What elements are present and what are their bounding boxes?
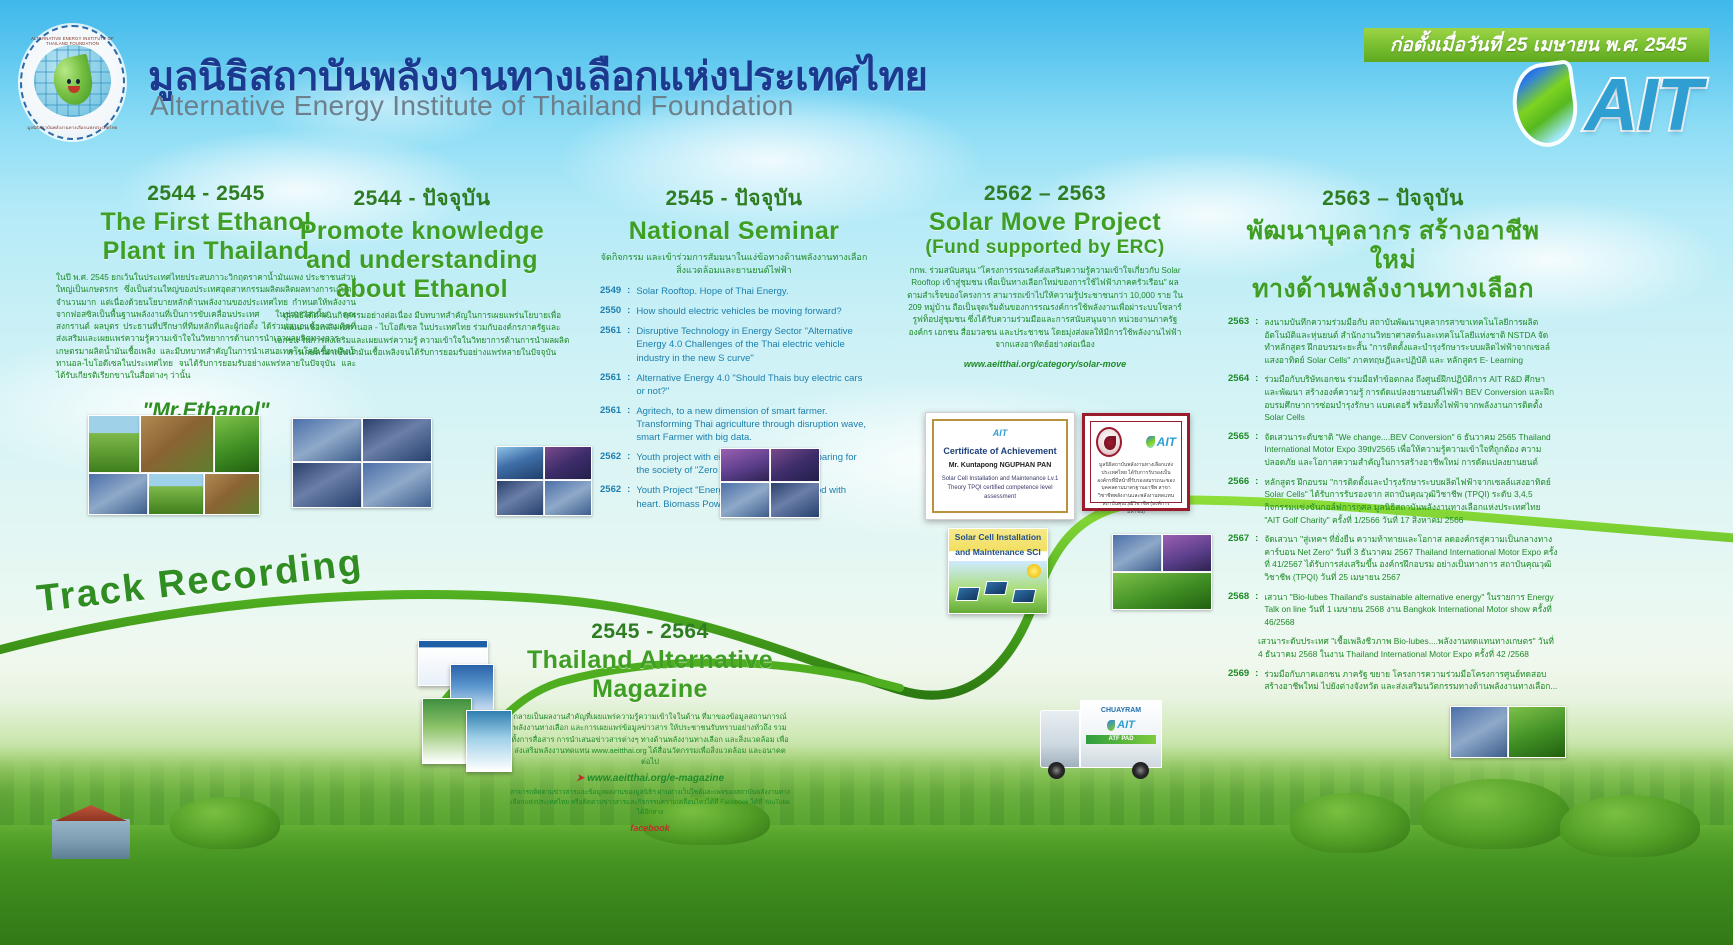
item-year: 2564	[1228, 373, 1249, 423]
column-body-thai: มูลนิธิได้ดำเนินกิจกรรมอย่างต่อเนื่อง มี…	[272, 310, 572, 359]
ait-logo: AIT	[1509, 62, 1701, 148]
infographic-poster: ALTERNATIVE ENERGY INSTITUTE OF THAILAND…	[0, 0, 1733, 945]
item-text: Disruptive Technology in Energy Sector "…	[636, 325, 868, 364]
photo	[362, 462, 432, 508]
item-text: ร่วมมือกับภาคเอกชน ภาครัฐ ขยาย โครงการคว…	[1264, 668, 1558, 693]
title-line: พัฒนาบุคลากร สร้างอาชีพใหม่	[1247, 217, 1540, 274]
seal-top-text: ALTERNATIVE ENERGY INSTITUTE OF THAILAND…	[20, 36, 125, 46]
solar-panel-icon	[984, 581, 1009, 595]
photo	[1508, 706, 1566, 758]
personnel-list: 2563: ลงนามบันทึกความร่วมมือกับ สถาบันพั…	[1228, 316, 1558, 693]
flame-icon	[1146, 436, 1155, 448]
column-solar-move-project: 2562 – 2563 Solar Move Project (Fund sup…	[905, 182, 1185, 369]
title-line: National Seminar	[629, 217, 840, 245]
track-recording-label: Track Recording	[35, 542, 366, 622]
item-text: เสวนาระดับประเทศ "เชื้อเพลิงชีวภาพ Bio-l…	[1258, 635, 1558, 660]
facebook-badge[interactable]: facebook	[630, 823, 670, 833]
item-text: Solar Rooftop. Hope of Thai Energy.	[636, 285, 788, 298]
item-text: จัดเสวนาระดับชาติ "We change....BEV Conv…	[1264, 431, 1558, 469]
item-text: จัดเสวนา "สู่เทคฯ ที่ยั่งยืน ความท้าทายแ…	[1264, 533, 1558, 583]
photo	[1162, 534, 1212, 572]
photo	[770, 448, 820, 482]
item-year: 2550	[600, 305, 621, 318]
truck-box: CHUAYRAM AIT ATF PAD	[1080, 700, 1162, 768]
certificate-name: Mr. Kuntapong NGUPHAN PAN	[940, 461, 1060, 472]
solar-panel-icon	[1012, 589, 1037, 603]
item-text: เสวนา "Bio-lubes Thailand's sustainable …	[1264, 591, 1558, 629]
certificate-body: Solar Cell Installation and Maintenance …	[940, 475, 1060, 502]
photo	[140, 415, 214, 473]
list-item: 2568: เสวนา "Bio-lubes Thailand's sustai…	[1228, 591, 1558, 629]
photo	[720, 482, 770, 518]
photo	[1450, 706, 1508, 758]
truck-wheel	[1048, 762, 1065, 779]
title-line: Promote knowledge	[300, 217, 544, 245]
title-line: Thailand Alternative	[527, 646, 773, 674]
item-text: Agritech, to a new dimension of smart fa…	[636, 405, 868, 444]
photo	[496, 446, 544, 480]
photo	[544, 480, 592, 516]
column-thailand-alternative-magazine: 2545 - 2564 Thailand Alternative Magazin…	[510, 620, 790, 836]
bush	[1560, 795, 1700, 857]
bush	[1290, 793, 1410, 853]
item-year: 2566	[1228, 476, 1249, 526]
founded-date-banner: ก่อตั้งเมื่อวันที่ 25 เมษายน พ.ศ. 2545	[1364, 28, 1709, 62]
award-certificate-image: AIT มูลนิธิสถาบันพลังงานทางเลือกแห่งประเ…	[1082, 413, 1190, 511]
photo	[292, 418, 362, 462]
column-title: พัฒนาบุคลากร สร้างอาชีพใหม่ ทางด้านพลังง…	[1228, 217, 1558, 304]
truck-ait-label: AIT	[1117, 719, 1135, 731]
solar-training-banner: Solar Cell Installation and Maintenance …	[948, 528, 1048, 614]
truck-ait-logo: AIT	[1081, 719, 1161, 731]
certificate-image: AIT Certificate of Achievement Mr. Kunta…	[925, 412, 1075, 520]
truck-cab	[1040, 710, 1080, 768]
photo	[496, 480, 544, 516]
photo	[1112, 534, 1162, 572]
national-emblem-icon	[1096, 427, 1122, 457]
sun-icon	[1027, 564, 1041, 578]
list-item: 2561: Agritech, to a new dimension of sm…	[600, 405, 868, 444]
magazine-link-text: www.aeitthai.org/e-magazine	[587, 773, 724, 784]
list-item: 2563: ลงนามบันทึกความร่วมมือกับ สถาบันพั…	[1228, 316, 1558, 366]
item-text: ลงนามบันทึกความร่วมมือกับ สถาบันพัฒนาบุค…	[1264, 316, 1558, 366]
truck-wheel	[1132, 762, 1149, 779]
item-year: 2549	[600, 285, 621, 298]
list-item: 2569: ร่วมมือกับภาคเอกชน ภาครัฐ ขยาย โคร…	[1228, 668, 1558, 693]
bush	[1420, 779, 1570, 849]
item-text: ร่วมมือกับบริษัทเอกชน ร่วมมือทำข้อตกลง ถ…	[1264, 373, 1558, 423]
banner-artwork	[949, 561, 1047, 613]
magazine-cover	[466, 710, 512, 772]
photo	[544, 446, 592, 480]
title-line: Magazine	[592, 675, 708, 703]
truck-brand: CHUAYRAM	[1081, 707, 1161, 714]
column-subtitle-thai: จัดกิจกรรม และเข้าร่วมการสัมมนาในแง่ข้อท…	[600, 251, 868, 277]
item-text: How should electric vehicles be moving f…	[636, 305, 841, 318]
ait-mini-label: AIT	[1157, 435, 1176, 449]
photo	[720, 448, 770, 482]
photo	[204, 473, 260, 515]
list-item: 2564: ร่วมมือกับบริษัทเอกชน ร่วมมือทำข้อ…	[1228, 373, 1558, 423]
photo	[1112, 572, 1212, 610]
column-promote-knowledge: 2544 - ปัจจุบัน Promote knowledge and un…	[272, 182, 572, 359]
item-year: 2562	[600, 451, 621, 477]
column-years: 2544 - ปัจจุบัน	[272, 182, 572, 215]
column-years: 2545 - ปัจจุบัน	[600, 182, 868, 215]
magazine-link[interactable]: ➤ www.aeitthai.org/e-magazine	[510, 773, 790, 784]
item-year: 2567	[1228, 533, 1249, 583]
photo	[214, 415, 260, 473]
list-item: 2566: หลักสูตร ฝึกอบรม "การติดตั้งและบำร…	[1228, 476, 1558, 526]
photo-cluster-seminar-a	[496, 446, 594, 516]
magazine-years: 2545 - 2564	[510, 620, 790, 644]
photo-cluster-solar-move	[1112, 534, 1212, 610]
column-body-thai: กกพ. ร่วมสนับสนุน "โครงการรณรงค์ส่งเสริม…	[905, 265, 1185, 351]
photo-cluster-promote	[292, 418, 434, 508]
bush	[170, 797, 280, 849]
title-line: ทางด้านพลังงานทางเลือก	[1252, 275, 1534, 303]
item-year: 2568	[1228, 591, 1249, 629]
farmhouse	[52, 819, 130, 859]
column-subtitle: (Fund supported by ERC)	[905, 237, 1185, 259]
item-text: Alternative Energy 4.0 "Should Thais buy…	[636, 372, 868, 398]
column-develop-personnel: 2563 – ปัจจุบัน พัฒนาบุคลากร สร้างอาชีพใ…	[1228, 182, 1558, 700]
mobile-unit-truck: CHUAYRAM AIT ATF PAD	[1040, 700, 1164, 770]
item-year: 2565	[1228, 431, 1249, 469]
list-item: 2565: จัดเสวนาระดับชาติ "We change....BE…	[1228, 431, 1558, 469]
magazine-cover	[422, 698, 472, 764]
foundation-seal: ALTERNATIVE ENERGY INSTITUTE OF THAILAND…	[20, 25, 125, 140]
column-title: National Seminar	[600, 217, 868, 246]
photo	[292, 462, 362, 508]
item-text: หลักสูตร ฝึกอบรม "การติดตั้งและบำรุงรักษ…	[1264, 476, 1558, 526]
title-line: about Ethanol	[336, 275, 508, 303]
column-years: 2563 – ปัจจุบัน	[1228, 182, 1558, 215]
item-year: 2561	[600, 405, 621, 444]
truck-bar-label: ATF PAD	[1086, 735, 1156, 744]
column-title: Solar Move Project	[905, 208, 1185, 237]
item-year: 2561	[600, 325, 621, 364]
certificate-title: Certificate of Achievement	[940, 445, 1060, 459]
photo-cluster-personnel	[1450, 706, 1568, 758]
photo	[148, 473, 204, 515]
photo-cluster-seminar-b	[720, 448, 820, 518]
list-item: 2561: Disruptive Technology in Energy Se…	[600, 325, 868, 364]
flame-icon	[1107, 720, 1115, 731]
photo-cluster-ethanol	[88, 415, 268, 515]
magazine-title: Thailand Alternative Magazine	[510, 646, 790, 704]
certificate-header: AIT	[940, 427, 1060, 441]
item-year: 2562	[600, 484, 621, 510]
list-item: เสวนาระดับประเทศ "เชื้อเพลิงชีวภาพ Bio-l…	[1228, 635, 1558, 660]
ait-mini-logo: AIT	[1146, 435, 1176, 449]
title-line: Solar Move Project	[929, 208, 1161, 236]
list-item: 2549: Solar Rooftop. Hope of Thai Energy…	[600, 285, 868, 298]
photo	[362, 418, 432, 462]
list-item: 2567: จัดเสวนา "สู่เทคฯ ที่ยั่งยืน ความท…	[1228, 533, 1558, 583]
solar-panel-icon	[956, 587, 981, 601]
magazine-note: สามารถติดตามข่าวสารและข้อมูลผลงานของมูลน…	[510, 788, 790, 817]
item-year: 2561	[600, 372, 621, 398]
list-item: 2550: How should electric vehicles be mo…	[600, 305, 868, 318]
magazine-body-thai: กลายเป็นผลงานสำคัญที่เผยแพร่ความรู้ความเ…	[510, 711, 790, 767]
item-year: 2563	[1228, 316, 1249, 366]
ait-logo-text: AIT	[1585, 63, 1701, 147]
column-years: 2562 – 2563	[905, 182, 1185, 206]
photo	[88, 415, 140, 473]
list-item: 2561: Alternative Energy 4.0 "Should Tha…	[600, 372, 868, 398]
item-year: 2569	[1228, 668, 1249, 693]
title-line: and understanding	[306, 246, 538, 274]
seal-bottom-text: มูลนิธิสถาบันพลังงานทางเลือกแห่งประเทศไท…	[20, 124, 125, 131]
magazine-cover-cluster	[418, 640, 514, 770]
page-title-english: Alternative Energy Institute of Thailand…	[150, 90, 794, 122]
column-title: Promote knowledge and understanding abou…	[272, 217, 572, 304]
flame-icon	[1509, 63, 1583, 147]
photo	[770, 482, 820, 518]
truck-brand-label: HUAYRAM	[1106, 707, 1141, 714]
photo	[88, 473, 148, 515]
banner-line-2: and Maintenance SCI	[949, 544, 1047, 561]
award-body: มูลนิธิสถาบันพลังงานทางเลือกแห่งประเทศไท…	[1096, 462, 1176, 516]
solar-move-link[interactable]: www.aeitthai.org/category/solar-move	[905, 359, 1185, 369]
